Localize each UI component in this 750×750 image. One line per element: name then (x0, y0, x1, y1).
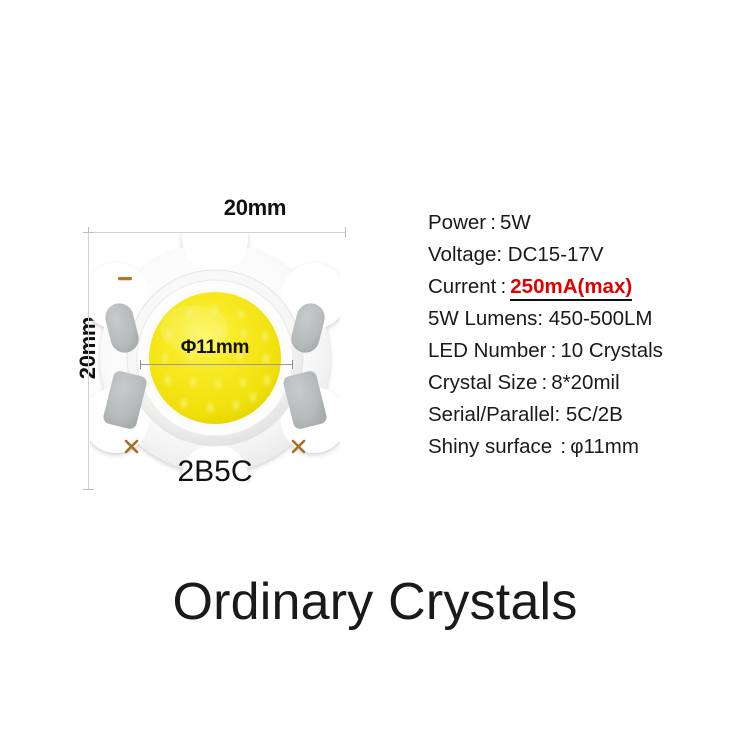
page-title: Ordinary Crystals (0, 572, 750, 632)
spec-lumens-label: 5W Lumens: 450-500LM (428, 307, 652, 330)
emitter-diameter-cap-left (140, 360, 141, 369)
spec-serial-parallel-label: Serial/Parallel: 5C/2B (428, 403, 623, 426)
spec-row-current: Current : 250mA(max) (428, 271, 728, 303)
spec-current-value: 250mA(max) (510, 275, 632, 301)
spec-row-shiny-surface: Shiny surface : φ11mm (428, 431, 728, 463)
emitter-diameter-line (140, 364, 292, 365)
phosphor-highlight (160, 305, 228, 353)
spec-row-led-number: LED Number : 10 Crystals (428, 335, 728, 367)
cob-led-chip-graphic (90, 233, 340, 483)
emitter-diameter-cap-right (292, 360, 293, 369)
spec-power-label: Power : 5W (428, 211, 531, 234)
spec-current-label: Current : (428, 275, 510, 298)
dimension-left-line (88, 232, 89, 490)
dimension-top-label: 20mm (185, 195, 325, 221)
spec-row-serial-parallel: Serial/Parallel: 5C/2B (428, 399, 728, 431)
spec-row-power: Power : 5W (428, 207, 728, 239)
spec-row-lumens: 5W Lumens: 450-500LM (428, 303, 728, 335)
cob-led-chip: Φ11mm 2B5C (90, 233, 340, 483)
spec-row-crystal-size: Crystal Size : 8*20mil (428, 367, 728, 399)
spec-led-number-label: LED Number : 10 Crystals (428, 339, 663, 362)
spec-crystal-size-label: Crystal Size : 8*20mil (428, 371, 620, 394)
part-number-label: 2B5C (145, 455, 285, 489)
spec-voltage-label: Voltage: DC15-17V (428, 243, 604, 266)
spec-shiny-surface-label: Shiny surface : φ11mm (428, 435, 639, 458)
specification-list: Power : 5W Voltage: DC15-17V Current : 2… (428, 207, 728, 463)
spec-row-voltage: Voltage: DC15-17V (428, 239, 728, 271)
dimension-left-tick-bottom (83, 489, 94, 490)
dimension-top-tick-right (345, 227, 346, 238)
polarity-negative-mark (118, 277, 132, 280)
led-diagram-panel: 20mm 20mm (60, 195, 360, 515)
